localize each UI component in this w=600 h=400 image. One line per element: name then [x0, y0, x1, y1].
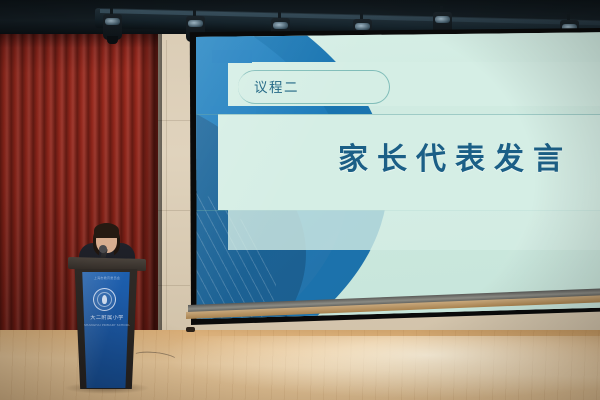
curtain-edge-shadow — [140, 22, 162, 340]
podium-crest-top-text: 上海市教育委员会 — [83, 276, 131, 280]
projection-screen[interactable]: 议程二 家长代表发言 — [186, 28, 600, 328]
slide-title: 家长代表发言 — [338, 134, 572, 178]
podium-top — [68, 257, 146, 271]
school-crest-figure — [102, 295, 107, 304]
podium-school-name-sub: SHANGHAI PRIMARY SCHOOL — [83, 323, 131, 327]
microphone-head-icon — [99, 245, 107, 253]
slide-panel-bottom — [228, 210, 600, 250]
slide-band-line — [186, 114, 600, 115]
speaker-hair-top — [94, 223, 119, 238]
agenda-label: 议程二 — [254, 76, 299, 96]
presentation-slide: 议程二 家长代表发言 — [186, 28, 600, 328]
floor-reflection — [150, 336, 600, 400]
wall-seam — [166, 40, 167, 330]
spotlight-icon — [103, 14, 122, 40]
auditorium-scene: 议程二 家长代表发言 上海市教育委员会 大二附属小学 SHANGHAI PRIM… — [0, 0, 600, 400]
podium-school-name: 大二附属小学 — [83, 315, 131, 322]
floor-object — [186, 327, 195, 332]
slide-notch — [212, 50, 252, 63]
